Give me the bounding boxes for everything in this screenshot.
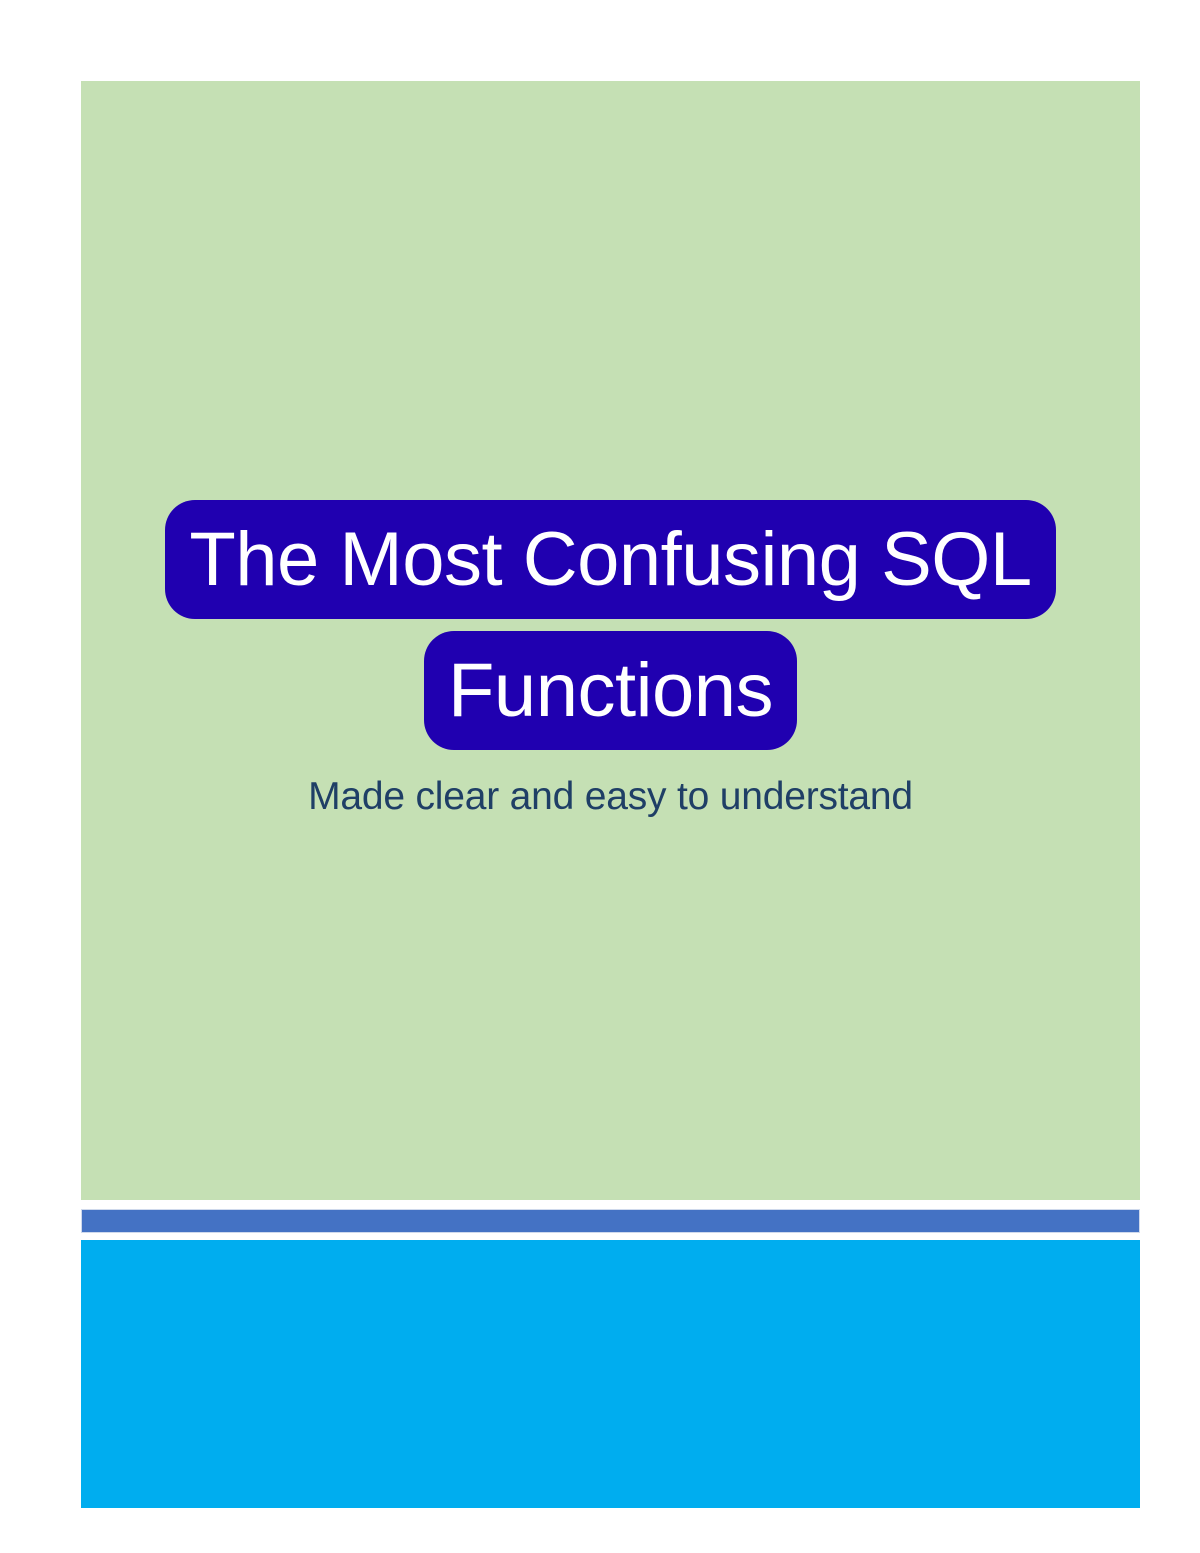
page-subtitle: Made clear and easy to understand — [81, 776, 1140, 819]
page-title: The Most Confusing SQL Functions — [165, 500, 1055, 750]
accent-bar-mid — [81, 1209, 1140, 1233]
document-page: The Most Confusing SQL Functions Made cl… — [0, 0, 1200, 1553]
hero-content: The Most Confusing SQL Functions Made cl… — [81, 495, 1140, 819]
hero-panel: The Most Confusing SQL Functions Made cl… — [81, 81, 1140, 1200]
page-title-wrapper: The Most Confusing SQL Functions — [96, 495, 1126, 756]
accent-bar-bottom — [81, 1240, 1140, 1508]
